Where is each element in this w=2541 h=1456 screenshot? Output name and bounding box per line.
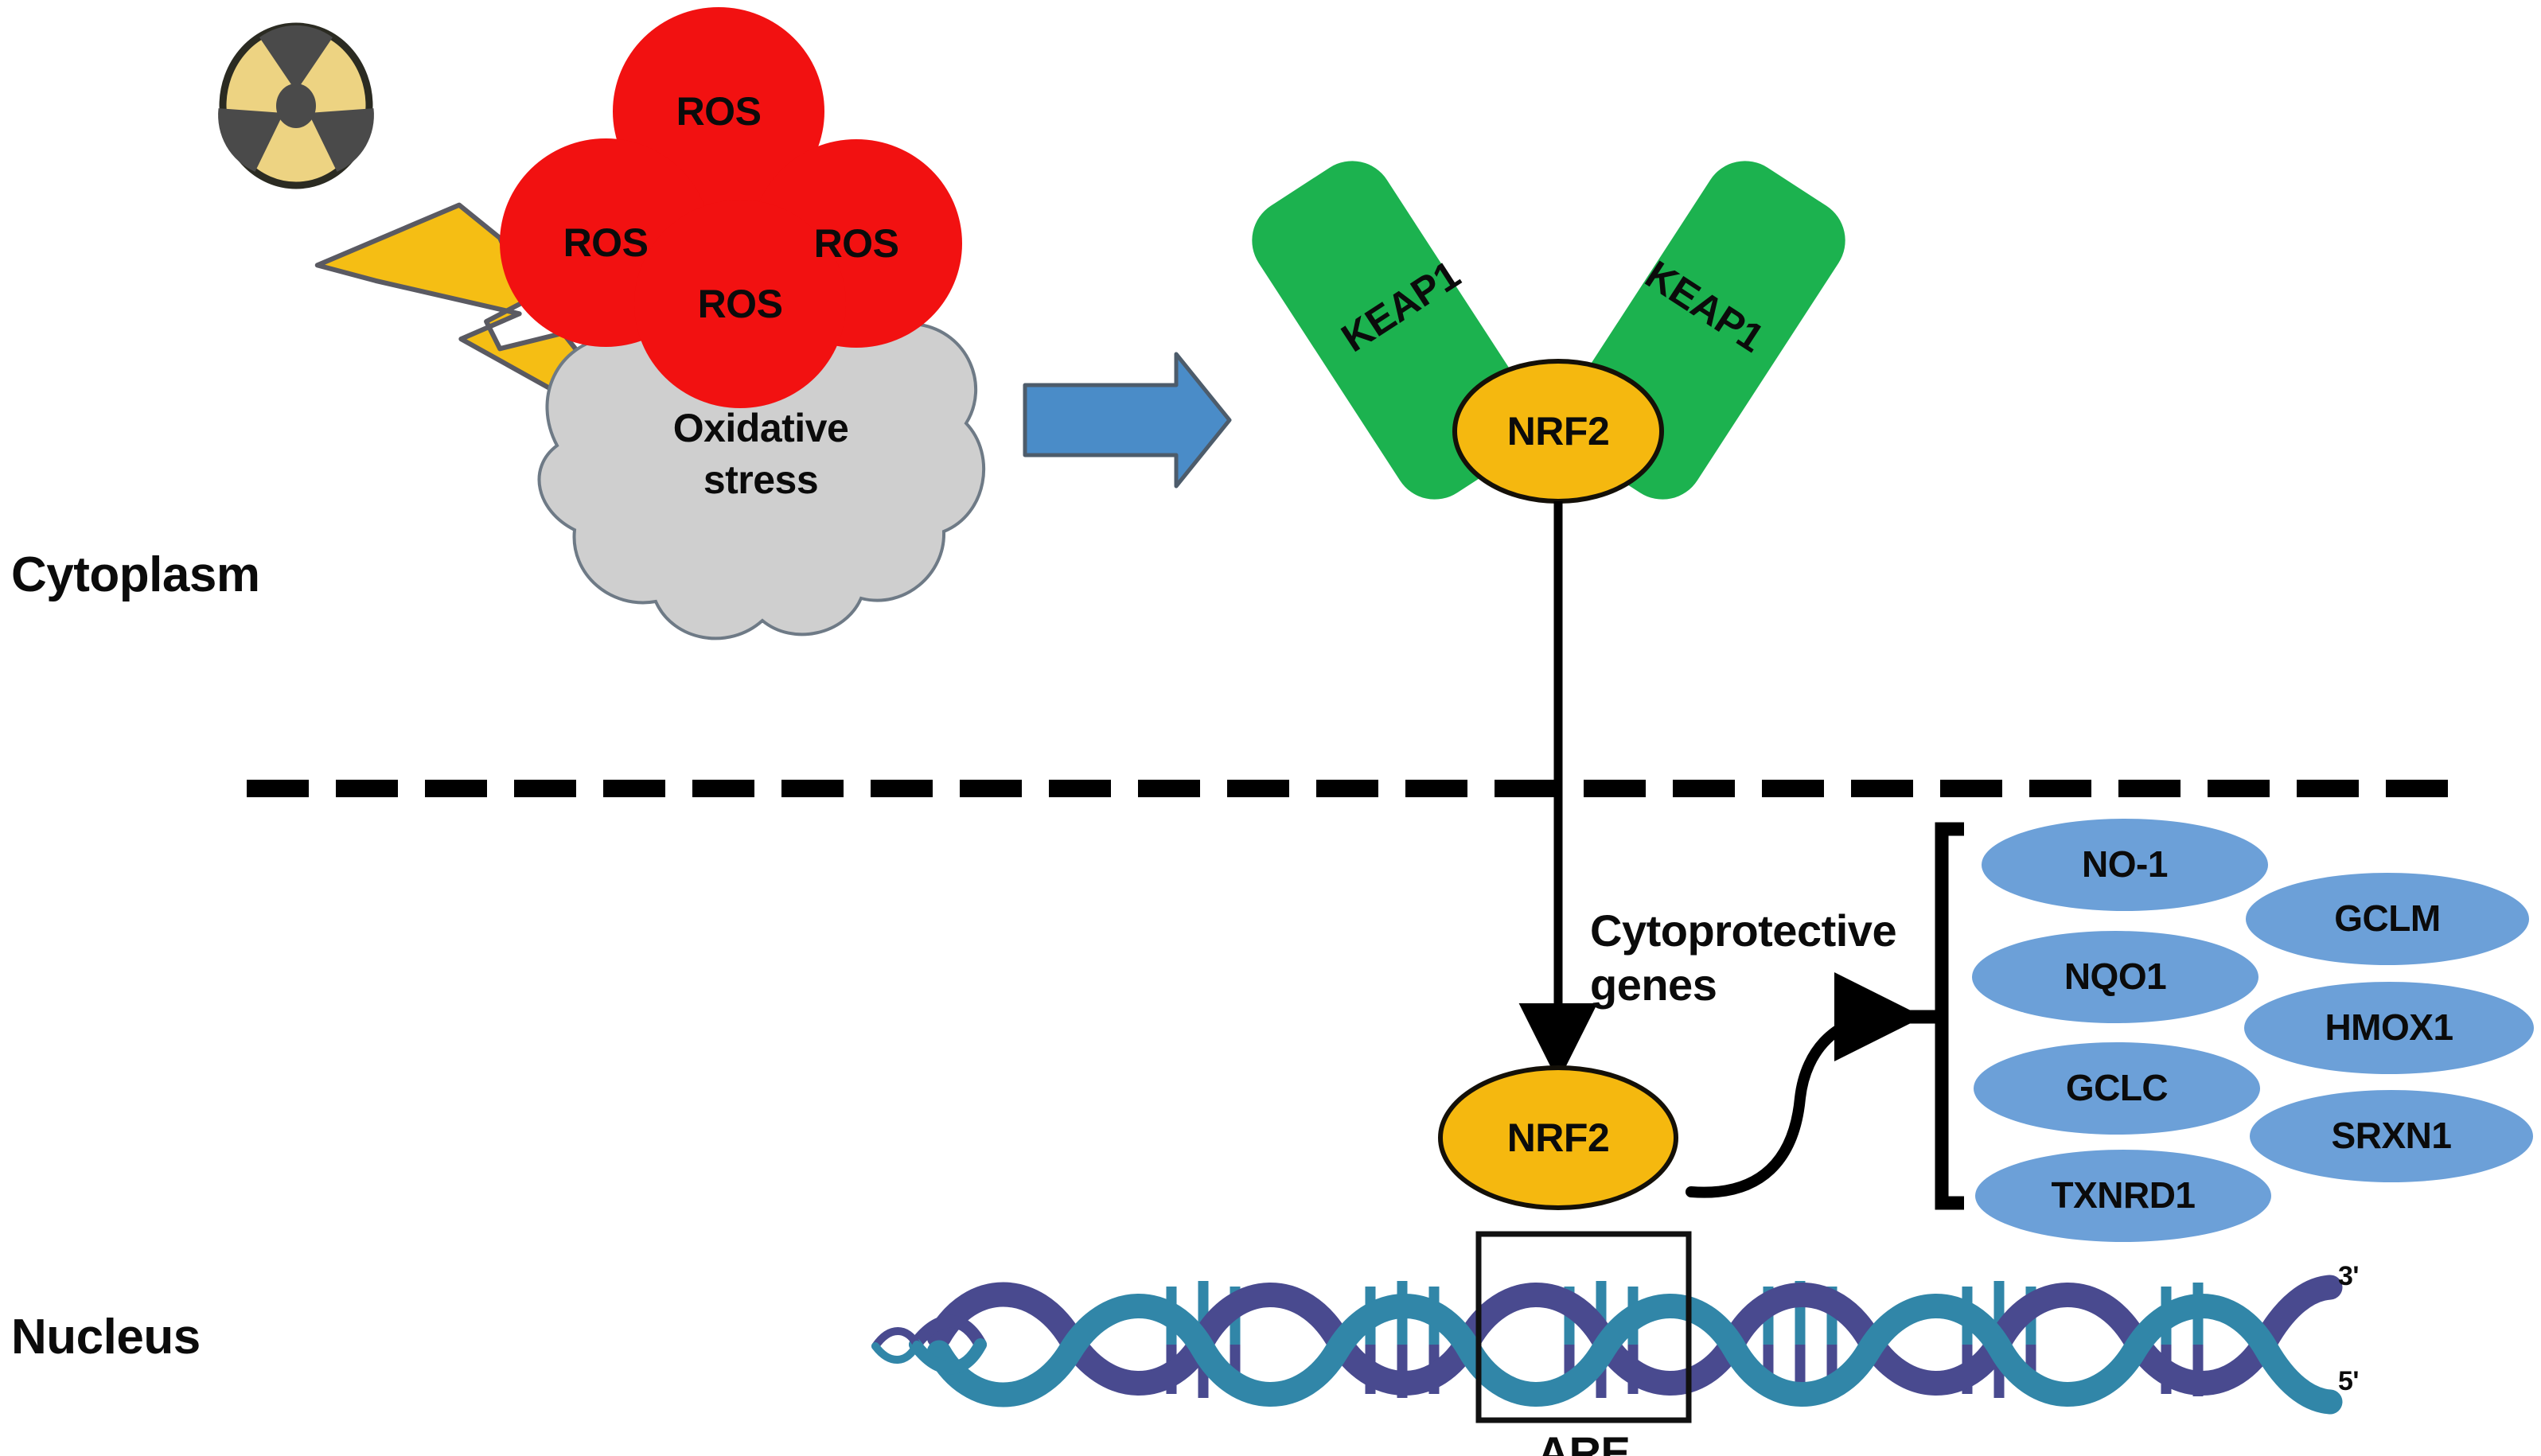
gene-label-hmox1: HMOX1 — [2284, 1006, 2494, 1049]
gene-bracket — [1890, 829, 1964, 1203]
nrf2-cytoplasmic-label: NRF2 — [1463, 409, 1654, 454]
gene-label-srxn1: SRXN1 — [2288, 1115, 2495, 1158]
block-arrow-right — [1025, 354, 1230, 486]
radiation-hazard-icon — [208, 25, 384, 185]
dna-double-helix — [875, 1281, 2330, 1402]
cytoprotective-genes-label-line2: genes — [1590, 961, 1717, 1009]
pathway-diagram: Cytoplasm Nucleus ROS ROS ROS ROS Oxidat… — [0, 0, 2541, 1456]
ros-label-left: ROS — [526, 220, 685, 265]
ros-label-right: ROS — [777, 221, 936, 266]
ros-label-bottom: ROS — [661, 282, 820, 326]
gene-label-nqo1: NQO1 — [2012, 956, 2219, 999]
diagram-canvas — [0, 0, 2541, 1456]
gene-label-gclm: GCLM — [2284, 897, 2491, 940]
dna-end-label-5prime: 5' — [2338, 1367, 2359, 1396]
dna-end-label-3prime: 3' — [2338, 1262, 2359, 1291]
curved-arrow-to-genes — [1691, 1017, 1884, 1193]
ros-label-top: ROS — [639, 89, 798, 134]
oxidative-stress-label-line1: Oxidative — [641, 406, 880, 450]
compartment-label-cytoplasm: Cytoplasm — [11, 549, 259, 602]
gene-label-no1: NO-1 — [2021, 843, 2228, 886]
cytoprotective-genes-label-line1: Cytoprotective — [1590, 907, 1896, 955]
gene-label-gclc: GCLC — [2013, 1067, 2220, 1110]
compartment-label-nucleus: Nucleus — [11, 1311, 201, 1365]
oxidative-stress-label-line2: stress — [641, 457, 880, 502]
nrf2-nuclear-label: NRF2 — [1463, 1115, 1654, 1160]
are-label: ARE — [1479, 1429, 1689, 1456]
gene-label-txnrd1: TXNRD1 — [2012, 1174, 2235, 1217]
